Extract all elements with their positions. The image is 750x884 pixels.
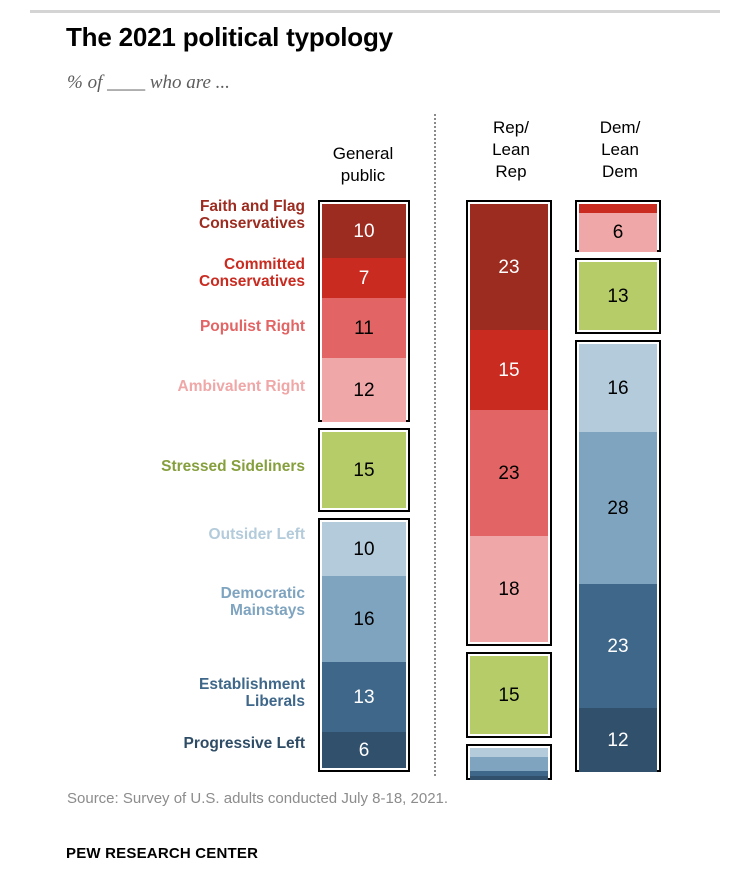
bar-segment-democratic-mainstays: 16	[322, 576, 406, 662]
bar-segment-value: 7	[359, 269, 370, 288]
bar-group-box: 23152318	[466, 200, 552, 646]
source-note: Source: Survey of U.S. adults conducted …	[67, 790, 448, 807]
bar-group-box: 15	[466, 652, 552, 738]
bar-group-box: 13	[575, 258, 661, 334]
bar-segment-value: 13	[607, 287, 628, 306]
bar-column-rep-lean-rep: 2315231815	[466, 196, 552, 772]
group-label-ambivalent-right: Ambivalent Right	[5, 378, 305, 395]
bar-segment-value: 15	[498, 686, 519, 705]
bar-segment-stressed-sideliners: 15	[322, 432, 406, 508]
group-label-progressive-left: Progressive Left	[5, 735, 305, 752]
bar-column-dem-lean-dem: 61316282312	[575, 196, 661, 772]
bar-segment-ambivalent-right: 6	[579, 213, 657, 252]
bar-segment-value: 15	[353, 461, 374, 480]
bar-segment-value: 6	[359, 741, 370, 760]
bar-group-box: 1016136	[318, 518, 410, 772]
bar-segment-populist-right: 11	[322, 298, 406, 358]
bar-segment-value: 28	[607, 499, 628, 518]
column-header-dem-lean-dem: Dem/ Lean Dem	[568, 117, 672, 182]
group-label-stressed-sideliners: Stressed Sideliners	[5, 458, 305, 475]
bar-segment-populist-right: 23	[470, 410, 548, 536]
bar-segment-ambivalent-right: 18	[470, 536, 548, 642]
bar-segment-value: 10	[353, 222, 374, 241]
bar-segment-progressive-left	[470, 776, 548, 780]
group-label-outsider-left: Outsider Left	[5, 526, 305, 543]
column-header-rep-lean-rep: Rep/ Lean Rep	[459, 117, 563, 182]
bar-segment-value: 16	[353, 610, 374, 629]
column-header-general-public: General public	[311, 143, 415, 187]
bar-segment-outsider-left: 16	[579, 344, 657, 432]
group-label-democratic-mainstays: Democratic Mainstays	[5, 585, 305, 620]
bar-segment-outsider-left: 10	[322, 522, 406, 576]
chart-subtitle: % of ____ who are ...	[67, 72, 230, 94]
bar-segment-stressed-sideliners: 15	[470, 656, 548, 734]
bar-segment-value: 15	[498, 361, 519, 380]
group-label-establishment-liberals: Establishment Liberals	[5, 676, 305, 711]
column-group-divider	[434, 114, 436, 776]
group-label-populist-right: Populist Right	[5, 318, 305, 335]
chart-page: The 2021 political typology % of ____ wh…	[0, 0, 750, 884]
bar-segment-progressive-left: 12	[579, 708, 657, 772]
bar-segment-establishment-liberals: 13	[322, 662, 406, 732]
bar-group-box: 15	[318, 428, 410, 512]
bar-segment-committed-cons	[579, 204, 657, 213]
bar-segment-value: 12	[353, 381, 374, 400]
bar-segment-progressive-left: 6	[322, 732, 406, 768]
bar-segment-value: 23	[498, 464, 519, 483]
bar-segment-value: 18	[498, 580, 519, 599]
bar-segment-ambivalent-right: 12	[322, 358, 406, 422]
bar-segment-value: 10	[353, 540, 374, 559]
bar-group-box: 16282312	[575, 340, 661, 772]
bar-column-general-public: 1071112151016136	[318, 196, 410, 772]
bar-group-box: 6	[575, 200, 661, 252]
bar-segment-committed-cons: 15	[470, 330, 548, 410]
organization-credit: PEW RESEARCH CENTER	[66, 845, 258, 862]
bar-segment-democratic-mainstays	[470, 757, 548, 771]
bar-segment-value: 12	[607, 731, 628, 750]
bar-group-box: 1071112	[318, 200, 410, 422]
bar-segment-outsider-left	[470, 748, 548, 757]
bar-segment-value: 6	[613, 223, 624, 242]
bar-segment-faith-and-flag: 10	[322, 204, 406, 258]
bar-segment-democratic-mainstays: 28	[579, 432, 657, 584]
bar-segment-stressed-sideliners: 13	[579, 262, 657, 330]
top-divider-rule	[30, 10, 720, 13]
group-label-faith-and-flag: Faith and Flag Conservatives	[5, 198, 305, 233]
bar-segment-value: 13	[353, 688, 374, 707]
bar-segment-faith-and-flag: 23	[470, 204, 548, 330]
bar-segment-value: 11	[354, 319, 374, 338]
bar-segment-establishment-liberals: 23	[579, 584, 657, 708]
typology-group-labels: Faith and Flag ConservativesCommitted Co…	[0, 196, 305, 768]
bar-segment-value: 23	[498, 258, 519, 277]
page-title: The 2021 political typology	[66, 22, 393, 53]
bar-segment-committed-cons: 7	[322, 258, 406, 298]
bar-segment-value: 16	[607, 379, 628, 398]
bar-segment-value: 23	[607, 637, 628, 656]
bar-group-box	[466, 744, 552, 780]
group-label-committed-cons: Committed Conservatives	[5, 256, 305, 291]
